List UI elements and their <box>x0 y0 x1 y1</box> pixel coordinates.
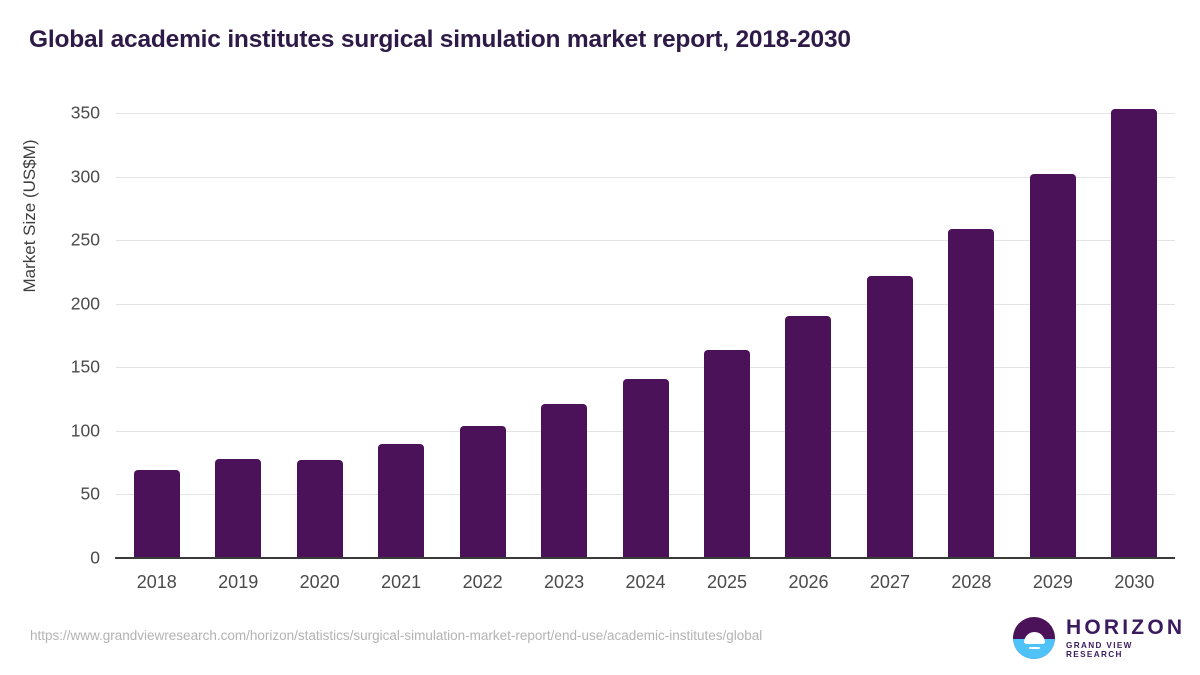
x-axis-tick-label: 2020 <box>279 558 360 592</box>
bar-slot <box>116 113 197 558</box>
bar-slot <box>768 113 849 558</box>
horizon-sunrise-icon <box>1013 617 1055 659</box>
x-axis-tick-label: 2028 <box>931 558 1012 592</box>
logo-wordmark: HORIZON <box>1066 617 1185 638</box>
y-axis-tick-label: 350 <box>0 103 100 124</box>
logo-ray-line-2 <box>1029 647 1040 649</box>
y-axis-tick-label: 100 <box>0 420 100 441</box>
bar[interactable] <box>378 444 424 558</box>
x-axis-tick-label: 2025 <box>686 558 767 592</box>
bar[interactable] <box>215 459 261 558</box>
y-axis-tick-label: 150 <box>0 357 100 378</box>
bar-slot <box>523 113 604 558</box>
x-axis-tick-label: 2026 <box>768 558 849 592</box>
x-axis-tick-label: 2023 <box>523 558 604 592</box>
bar[interactable] <box>460 426 506 558</box>
logo-subtitle: GRAND VIEW RESEARCH <box>1066 642 1185 658</box>
plot-region: 050100150200250300350 <box>116 113 1175 558</box>
bar[interactable] <box>1030 174 1076 558</box>
x-axis-tick-label: 2029 <box>1012 558 1093 592</box>
bar-slot <box>931 113 1012 558</box>
bar-slot <box>442 113 523 558</box>
chart-area: Market Size (US$M) 050100150200250300350… <box>0 0 1200 675</box>
bar-slot <box>360 113 441 558</box>
bar[interactable] <box>1111 109 1157 558</box>
y-axis-tick-label: 250 <box>0 230 100 251</box>
x-axis-tick-label: 2019 <box>197 558 278 592</box>
x-axis-tick-label: 2024 <box>605 558 686 592</box>
y-axis-tick-label: 0 <box>0 548 100 569</box>
y-axis-tick-label: 300 <box>0 166 100 187</box>
y-axis-tick-label: 200 <box>0 293 100 314</box>
bar[interactable] <box>297 460 343 558</box>
y-axis-tick-label: 50 <box>0 484 100 505</box>
source-url[interactable]: https://www.grandviewresearch.com/horizo… <box>30 628 762 643</box>
bar-slot <box>1094 113 1175 558</box>
bar[interactable] <box>541 404 587 558</box>
bar-slot <box>849 113 930 558</box>
x-axis-tick-label: 2027 <box>849 558 930 592</box>
bar-slot <box>1012 113 1093 558</box>
x-axis-tick-label: 2030 <box>1094 558 1175 592</box>
logo-ray-line-1 <box>1025 642 1044 644</box>
bar-slot <box>686 113 767 558</box>
y-axis-title: Market Size (US$M) <box>20 36 40 396</box>
x-axis-tick-label: 2022 <box>442 558 523 592</box>
x-axis-tick-label: 2021 <box>360 558 441 592</box>
bar-slot <box>279 113 360 558</box>
x-axis-tick-label: 2018 <box>116 558 197 592</box>
bar[interactable] <box>785 316 831 558</box>
bar-slot <box>605 113 686 558</box>
bar-slot <box>197 113 278 558</box>
bar[interactable] <box>134 470 180 558</box>
chart-page: Global academic institutes surgical simu… <box>0 0 1200 675</box>
logo-text: HORIZON GRAND VIEW RESEARCH <box>1066 617 1185 658</box>
x-axis-ticks: 2018201920202021202220232024202520262027… <box>116 558 1175 592</box>
bar[interactable] <box>948 229 994 558</box>
bar[interactable] <box>867 276 913 558</box>
horizon-logo[interactable]: HORIZON GRAND VIEW RESEARCH <box>1013 615 1173 661</box>
bar-series <box>116 113 1175 558</box>
bar[interactable] <box>623 379 669 558</box>
bar[interactable] <box>704 350 750 559</box>
